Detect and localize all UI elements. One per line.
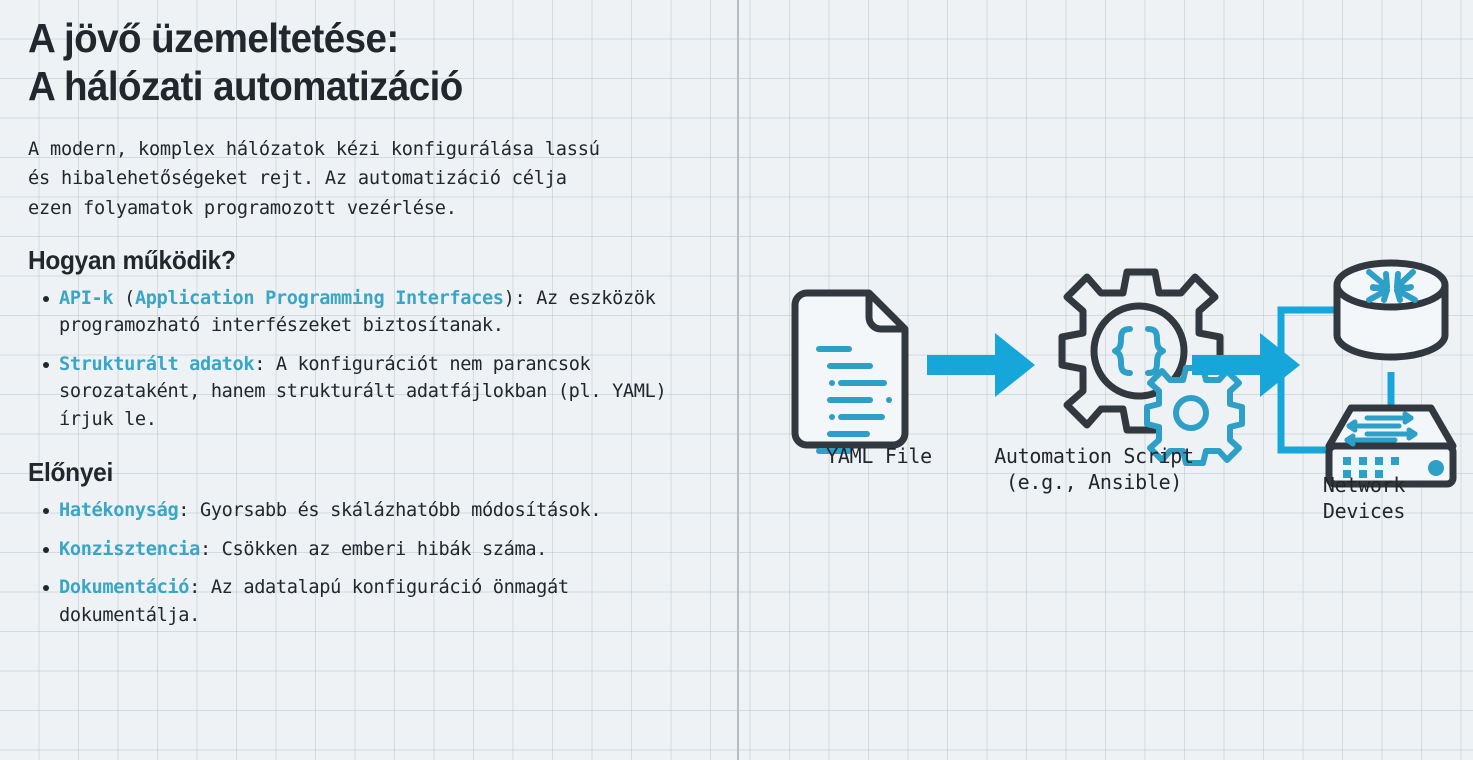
slide-canvas: A jövő üzemeltetése: A hálózati automati… [0, 0, 1473, 760]
section-heading-how-it-works: Hogyan működik? [28, 245, 666, 276]
flow-arrow-1-icon [927, 333, 1035, 397]
node-label-network-devices: Network Devices [1259, 472, 1469, 524]
bullet-keyword: Dokumentáció [59, 577, 189, 598]
bullet-keyword-expansion: Application Programming Interfaces [135, 288, 504, 309]
section-heading-benefits: Előnyei [28, 457, 666, 488]
page-title: A jövő üzemeltetése: A hálózati automati… [28, 14, 666, 111]
automation-flow-diagram [739, 0, 1473, 760]
page-title-line-2: A hálózati automatizáció [28, 62, 666, 110]
router-icon [1337, 263, 1445, 357]
list-item: Konzisztencia: Csökken az emberi hibák s… [28, 536, 707, 564]
page-title-line-1: A jövő üzemeltetése: [28, 14, 666, 62]
list-item: Hatékonyság: Gyorsabb és skálázhatóbb mó… [28, 497, 707, 525]
left-content-column: A jövő üzemeltetése: A hálózati automati… [0, 0, 737, 760]
bullet-paren-close: ) [504, 288, 515, 309]
bullet-list-benefits: Hatékonyság: Gyorsabb és skálázhatóbb mó… [28, 497, 707, 629]
curly-braces-glyph [1115, 329, 1163, 373]
bullet-keyword: Konzisztencia [59, 539, 200, 560]
bullet-text: : Csökken az emberi hibák száma. [200, 539, 547, 560]
document-file-icon [795, 293, 905, 451]
intro-line-1: A modern, komplex hálózatok kézi konfigu… [28, 135, 707, 164]
node-label-automation-script: Automation Script (e.g., Ansible) [944, 443, 1244, 495]
list-item: Strukturált adatok: A konfigurációt nem … [28, 351, 707, 434]
intro-paragraph: A modern, komplex hálózatok kézi konfigu… [28, 135, 707, 223]
bullet-keyword: Strukturált adatok [59, 354, 254, 375]
intro-line-3: ezen folyamatok programozott vezérlése. [28, 194, 707, 223]
list-item: Dokumentáció: Az adatalapú konfiguráció … [28, 574, 707, 629]
bullet-keyword: Hatékonyság [59, 500, 178, 521]
bullet-list-how-it-works: API-k (Application Programming Interface… [28, 285, 707, 434]
list-item: API-k (Application Programming Interface… [28, 285, 707, 340]
bullet-keyword: API-k [59, 288, 113, 309]
bullet-text: : Gyorsabb és skálázhatóbb módosítások. [178, 500, 601, 521]
bullet-paren-open: ( [113, 288, 135, 309]
right-diagram-column: YAML File Automation Script (e.g., Ansib… [739, 0, 1473, 760]
intro-line-2: és hibalehetőségeket rejt. Az automatizá… [28, 164, 707, 193]
